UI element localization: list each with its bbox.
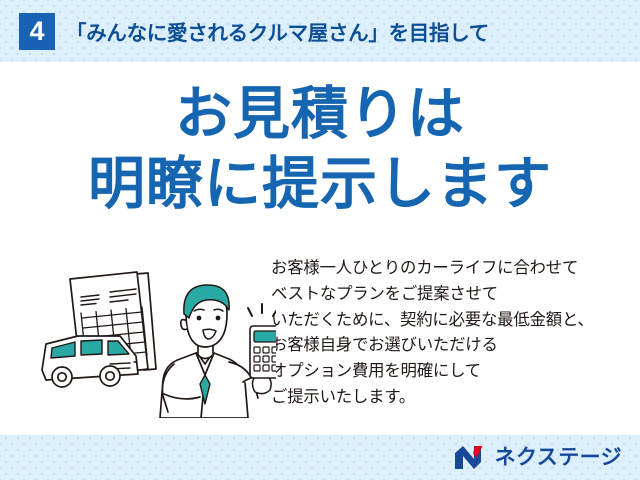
body-copy-line: ご提示いたします。 [271, 385, 627, 411]
headline-line-1: お見積りは [0, 84, 640, 146]
body-copy-line: ベストなプランをご提案させて [271, 282, 627, 308]
brand-name: ネクステージ [495, 447, 622, 468]
body-copy-line: オプション費用を明確にして [271, 359, 627, 385]
body-copy-line: お客様自身でお選びいただける [271, 333, 627, 359]
headline-line-2: 明瞭に提示します [0, 154, 640, 216]
salesman-van-estimate-illustration [24, 252, 276, 418]
content-card: お見積りは 明瞭に提示します お客様一人ひとりのカーライフに合わせて ベストなプ… [0, 62, 640, 435]
brand-footer: ネクステージ [454, 442, 622, 472]
nextstage-n-logo-icon [454, 445, 488, 470]
headline: お見積りは 明瞭に提示します [0, 84, 640, 215]
promo-slide: 4 「みんなに愛されるクルマ屋さん」を目指して お見積りは 明瞭に提示します お… [0, 0, 640, 480]
slide-header: 4 「みんなに愛されるクルマ屋さん」を目指して [0, 0, 640, 62]
body-copy-line: お客様一人ひとりのカーライフに合わせて [271, 256, 627, 282]
illustration [24, 252, 276, 418]
header-title: 「みんなに愛されるクルマ屋さん」を目指して [66, 16, 489, 46]
section-number-badge: 4 [19, 13, 55, 50]
body-copy-line: いただくために、契約に必要な最低金額と、 [271, 308, 627, 334]
body-copy: お客様一人ひとりのカーライフに合わせて ベストなプランをご提案させて いただくた… [271, 256, 627, 411]
